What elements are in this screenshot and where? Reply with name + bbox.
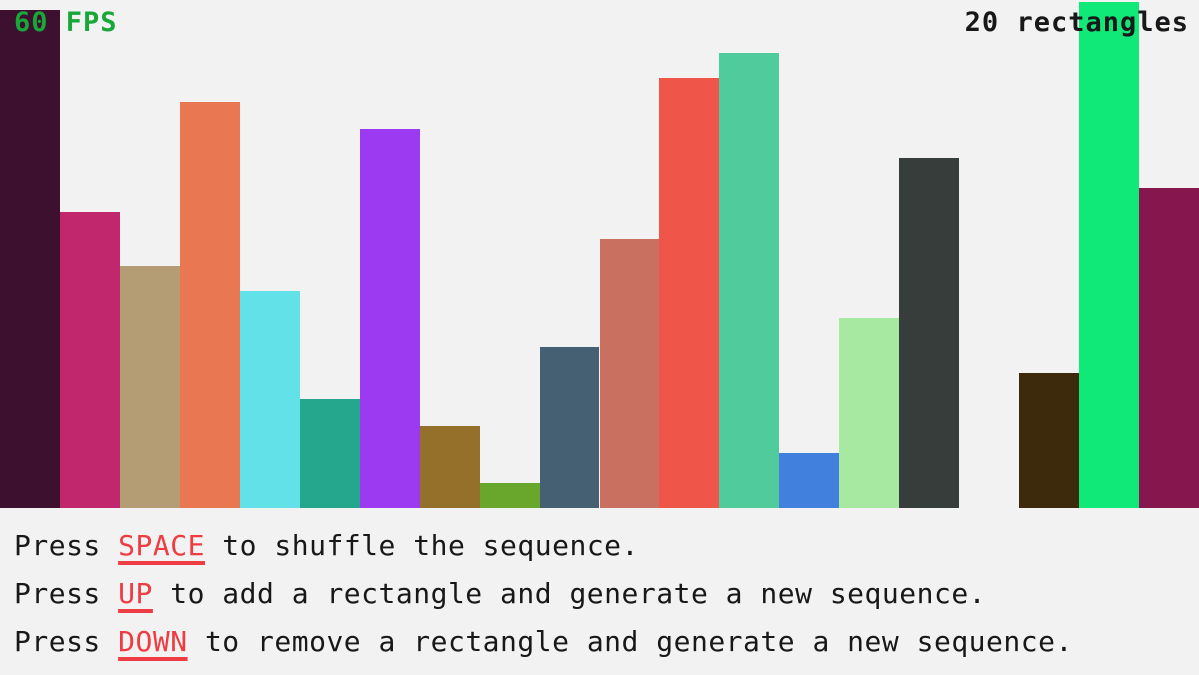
instruction-line-add: Press UP to add a rectangle and generate… (14, 570, 1199, 618)
key-up[interactable]: UP (118, 577, 153, 610)
instruction-prefix: Press (14, 529, 118, 562)
key-space[interactable]: SPACE (118, 529, 205, 562)
instruction-suffix: to remove a rectangle and generate a new… (188, 625, 1073, 658)
bar-rectangle (719, 53, 779, 508)
bar-rectangle (899, 158, 959, 508)
bar-rectangle (180, 102, 240, 508)
instruction-prefix: Press (14, 625, 118, 658)
bar-rectangle (659, 78, 719, 508)
bar-rectangle (360, 129, 420, 508)
fps-counter: 60 FPS (14, 8, 118, 38)
instruction-suffix: to add a rectangle and generate a new se… (153, 577, 986, 610)
instructions-panel: Press SPACE to shuffle the sequence. Pre… (0, 508, 1199, 675)
bar-chart-canvas[interactable] (0, 0, 1199, 508)
bar-rectangle (540, 347, 600, 508)
instruction-line-shuffle: Press SPACE to shuffle the sequence. (14, 522, 1199, 570)
bar-rectangle (600, 239, 660, 508)
bar-rectangle (1079, 2, 1139, 508)
bar-rectangle (779, 453, 839, 508)
rectangle-visualizer-app: 60 FPS 20 rectangles Press SPACE to shuf… (0, 0, 1199, 675)
instruction-suffix: to shuffle the sequence. (205, 529, 639, 562)
bar-rectangle (120, 266, 180, 508)
bar-rectangle (300, 399, 360, 508)
bar-rectangle (240, 291, 300, 508)
bar-rectangle (1019, 373, 1079, 508)
bar-rectangle (420, 426, 480, 508)
bar-rectangle (839, 318, 899, 508)
bar-rectangle (0, 10, 60, 508)
instruction-prefix: Press (14, 577, 118, 610)
key-down[interactable]: DOWN (118, 625, 187, 658)
instruction-line-remove: Press DOWN to remove a rectangle and gen… (14, 618, 1199, 666)
rectangle-count-label: 20 rectangles (965, 8, 1189, 38)
bar-rectangle (480, 483, 540, 508)
bar-rectangle (60, 212, 120, 508)
bar-rectangle (1139, 188, 1199, 508)
